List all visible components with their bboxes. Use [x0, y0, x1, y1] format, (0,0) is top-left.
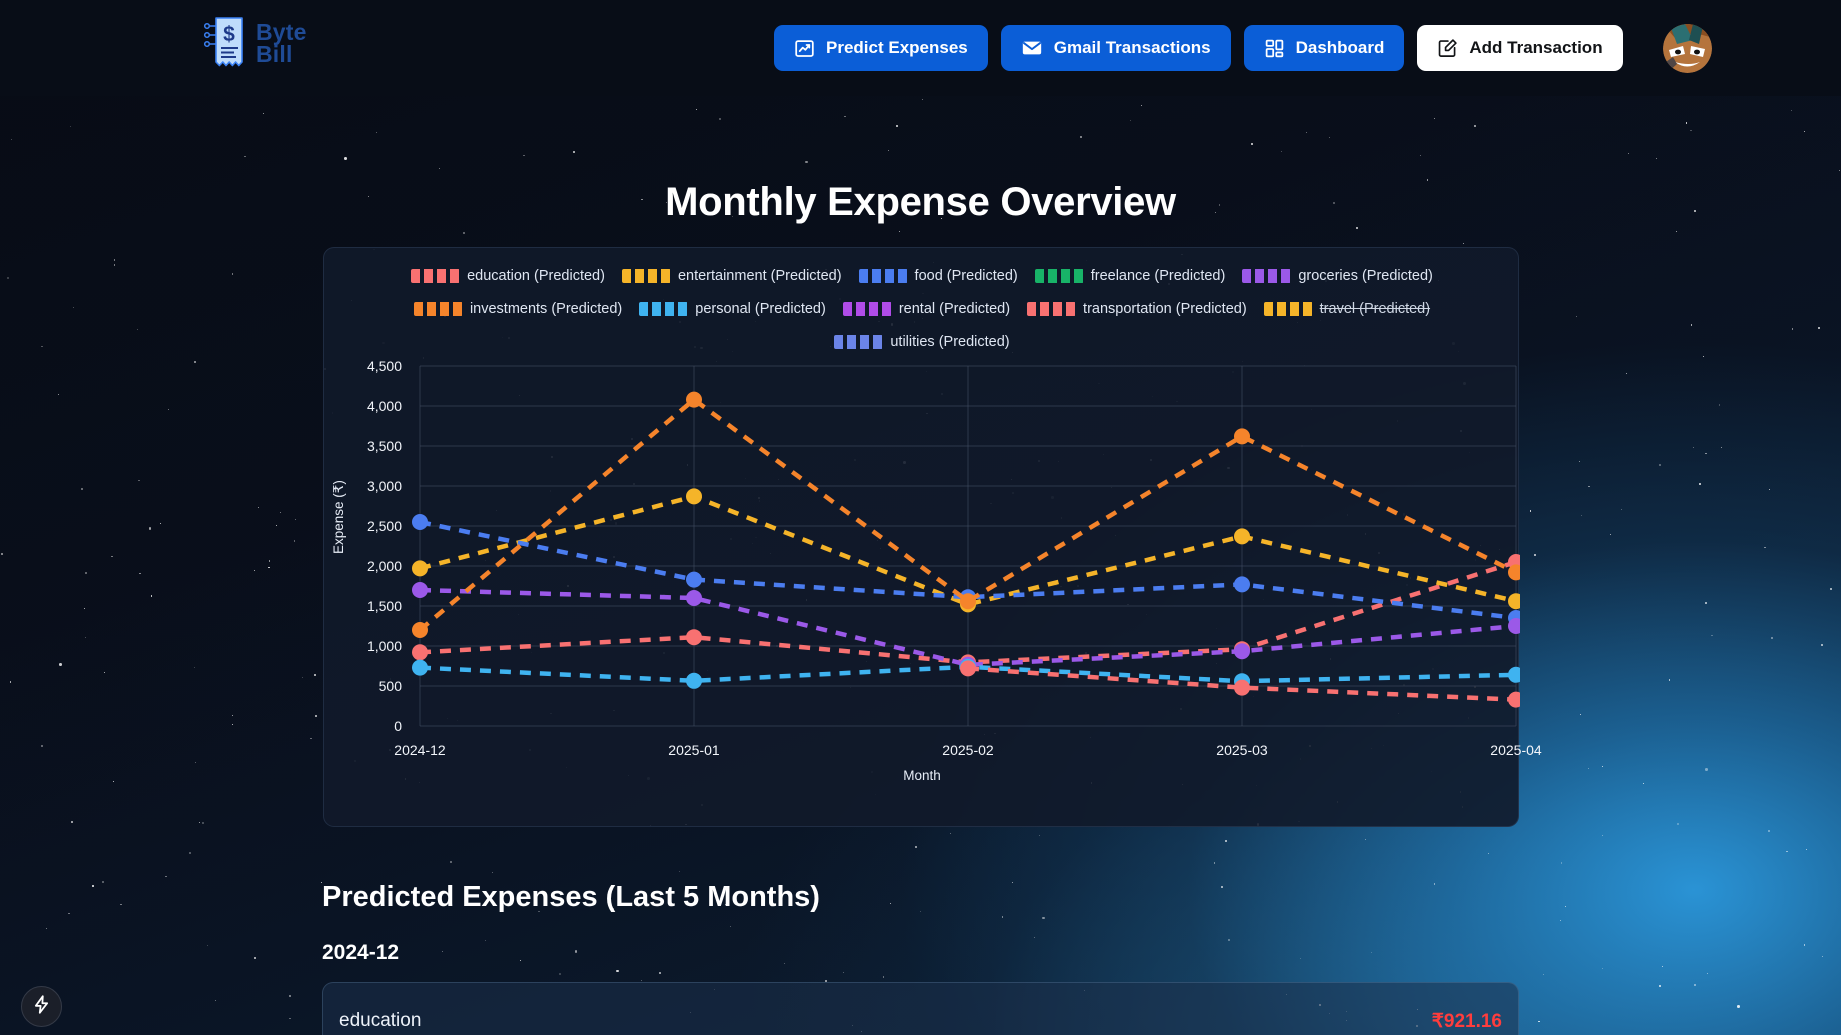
legend-swatch-icon [1264, 302, 1313, 316]
receipt-dollar-icon: $ [201, 15, 247, 71]
x-axis-label: Month [324, 768, 1520, 783]
legend-label: transportation (Predicted) [1083, 301, 1247, 317]
y-axis-tick: 1,500 [324, 598, 402, 614]
brand-text: Byte Bill [256, 21, 307, 65]
legend-swatch-icon [1242, 269, 1291, 283]
y-axis-tick: 2,000 [324, 558, 402, 574]
legend-item-utilities[interactable]: utilities (Predicted) [834, 328, 1009, 355]
legend-swatch-icon [414, 302, 463, 316]
legend-label: utilities (Predicted) [890, 334, 1009, 350]
legend-label: groceries (Predicted) [1298, 268, 1433, 284]
predict-expenses-label: Predict Expenses [826, 38, 968, 58]
expense-row-card[interactable]: education ₹921.16 [322, 982, 1519, 1035]
legend-item-education[interactable]: education (Predicted) [411, 262, 605, 289]
y-axis-tick: 4,500 [324, 358, 402, 374]
x-axis-tick: 2025-01 [668, 742, 719, 758]
predicted-expenses-heading: Predicted Expenses (Last 5 Months) [322, 881, 820, 914]
quick-action-button[interactable] [21, 986, 62, 1027]
edit-square-icon [1437, 38, 1458, 59]
brand-line-1: Byte [256, 21, 307, 43]
dashboard-label: Dashboard [1296, 38, 1385, 58]
legend-item-personal[interactable]: personal (Predicted) [639, 295, 826, 322]
y-axis-tick: 0 [324, 718, 402, 734]
nav-button-group: Predict Expenses Gmail Transactions [774, 25, 1623, 71]
legend-swatch-icon [411, 269, 460, 283]
chart-plot-area: Expense (₹) Month 05001,0001,5002,0002,5… [324, 356, 1520, 828]
y-axis-tick: 500 [324, 678, 402, 694]
dashboard-button[interactable]: Dashboard [1244, 25, 1405, 71]
legend-swatch-icon [859, 269, 908, 283]
gmail-transactions-button[interactable]: Gmail Transactions [1001, 25, 1231, 71]
chart-svg [324, 356, 1520, 828]
expense-amount: ₹921.16 [1432, 1010, 1502, 1033]
x-axis-tick: 2024-12 [394, 742, 445, 758]
expense-category: education [339, 1010, 421, 1032]
monthly-expense-chart-card: education (Predicted)entertainment (Pred… [323, 247, 1519, 827]
legend-label: entertainment (Predicted) [678, 268, 842, 284]
page-title: Monthly Expense Overview [0, 180, 1841, 225]
svg-text:$: $ [223, 23, 235, 46]
add-transaction-label: Add Transaction [1469, 38, 1602, 58]
legend-label: food (Predicted) [915, 268, 1018, 284]
gmail-transactions-label: Gmail Transactions [1054, 38, 1211, 58]
top-navigation-bar: $ Byte Bill [0, 0, 1841, 96]
legend-label: travel (Predicted) [1320, 301, 1430, 317]
legend-item-food[interactable]: food (Predicted) [859, 262, 1018, 289]
legend-label: investments (Predicted) [470, 301, 622, 317]
brand-logo[interactable]: $ Byte Bill [201, 15, 307, 71]
y-axis-tick: 2,500 [324, 518, 402, 534]
y-axis-tick: 3,000 [324, 478, 402, 494]
x-axis-tick: 2025-02 [942, 742, 993, 758]
legend-label: personal (Predicted) [695, 301, 826, 317]
predicted-month-label: 2024-12 [322, 941, 399, 965]
legend-label: education (Predicted) [467, 268, 605, 284]
y-axis-tick: 1,000 [324, 638, 402, 654]
chart-line-icon [794, 38, 815, 59]
legend-label: freelance (Predicted) [1091, 268, 1226, 284]
legend-swatch-icon [843, 302, 892, 316]
legend-item-investments[interactable]: investments (Predicted) [414, 295, 622, 322]
y-axis-tick: 3,500 [324, 438, 402, 454]
lightning-bolt-icon [31, 994, 52, 1020]
user-avatar[interactable] [1663, 24, 1712, 73]
legend-swatch-icon [1027, 302, 1076, 316]
legend-item-travel[interactable]: travel (Predicted) [1264, 295, 1430, 322]
legend-item-entertainment[interactable]: entertainment (Predicted) [622, 262, 842, 289]
grid-layout-icon [1264, 38, 1285, 59]
chart-legend: education (Predicted)entertainment (Pred… [324, 262, 1520, 355]
legend-item-groceries[interactable]: groceries (Predicted) [1242, 262, 1433, 289]
legend-swatch-icon [639, 302, 688, 316]
predict-expenses-button[interactable]: Predict Expenses [774, 25, 988, 71]
legend-swatch-icon [622, 269, 671, 283]
legend-item-transportation[interactable]: transportation (Predicted) [1027, 295, 1247, 322]
x-axis-tick: 2025-03 [1216, 742, 1267, 758]
legend-item-freelance[interactable]: freelance (Predicted) [1035, 262, 1226, 289]
add-transaction-button[interactable]: Add Transaction [1417, 25, 1622, 71]
envelope-icon [1021, 37, 1043, 59]
legend-swatch-icon [1035, 269, 1084, 283]
legend-swatch-icon [834, 335, 883, 349]
legend-item-rental[interactable]: rental (Predicted) [843, 295, 1010, 322]
x-axis-tick: 2025-04 [1490, 742, 1541, 758]
legend-label: rental (Predicted) [899, 301, 1010, 317]
brand-line-2: Bill [256, 43, 307, 65]
y-axis-tick: 4,000 [324, 398, 402, 414]
